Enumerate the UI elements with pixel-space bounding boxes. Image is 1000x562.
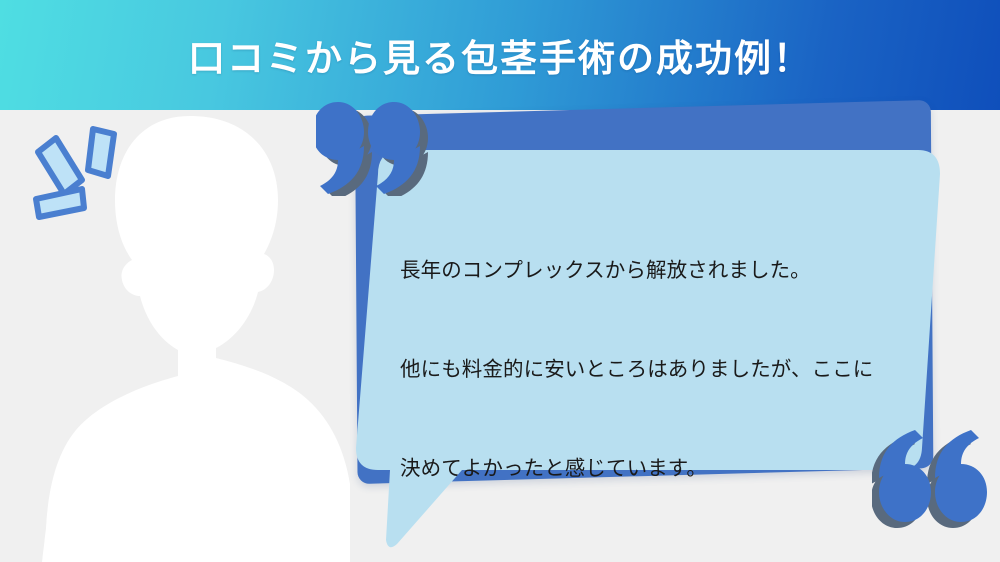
testimonial-bubble: 長年のコンプレックスから解放されました。 他にも料金的に安いところはありましたが… [352,148,952,548]
sparkle-lines-icon [22,118,142,223]
testimonial-line-2: 他にも料金的に安いところはありましたが、ここに [400,353,920,386]
testimonial-line-1: 長年のコンプレックスから解放されました。 [400,254,920,287]
open-quote-icon [316,96,436,196]
slide-canvas: 口コミから見る包茎手術の成功例！ 長年のコンプレックスから解放されました。 他に… [0,0,1000,562]
paragraph-spacer [400,551,920,562]
testimonial-text-block: 長年のコンプレックスから解放されました。 他にも料金的に安いところはありましたが… [400,188,920,562]
page-title: 口コミから見る包茎手術の成功例！ [0,0,1000,110]
close-quote-icon [872,428,998,528]
testimonial-line-3: 決めてよかったと感じています。 [400,452,920,485]
header-band: 口コミから見る包茎手術の成功例！ [0,0,1000,110]
